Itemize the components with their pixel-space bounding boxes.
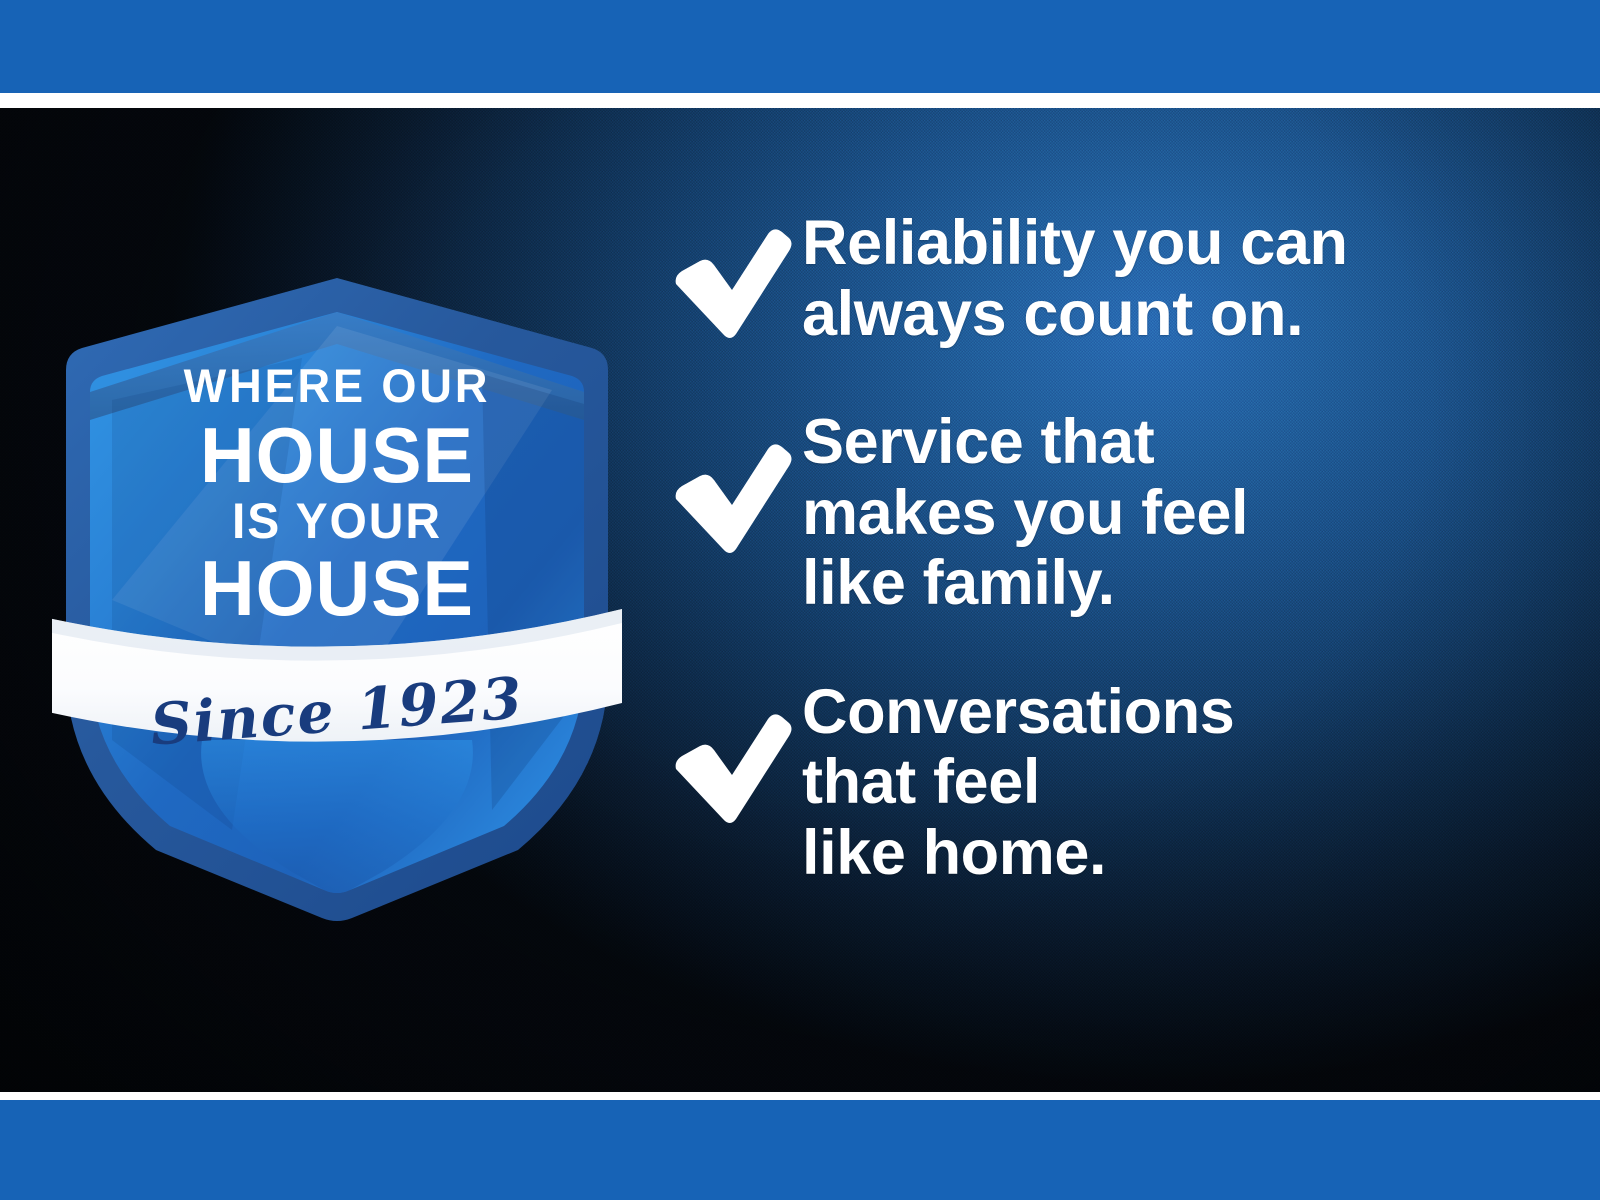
- benefit-line: makes you feel: [802, 478, 1560, 549]
- main-stage: WHERE OUR HOUSE IS YOUR HOUSE Since 1923…: [0, 108, 1600, 1092]
- badge-line-4: HOUSE: [61, 549, 614, 627]
- badge-wordmark: WHERE OUR HOUSE IS YOUR HOUSE: [52, 362, 622, 627]
- benefit-line: Reliability you can: [802, 208, 1560, 279]
- checkmark-icon: [670, 208, 802, 340]
- benefit-line: always count on.: [802, 279, 1560, 350]
- benefit-text: Reliability you can always count on.: [802, 208, 1560, 349]
- benefit-line: like home.: [802, 818, 1560, 889]
- benefit-item: Reliability you can always count on.: [670, 208, 1560, 349]
- badge-line-1: WHERE OUR: [63, 362, 610, 409]
- benefit-line: that feel: [802, 747, 1560, 818]
- benefit-item: Conversations that feel like home.: [670, 677, 1560, 889]
- badge-line-3: IS YOUR: [63, 496, 610, 546]
- checkmark-icon: [670, 677, 802, 825]
- shield-badge: WHERE OUR HOUSE IS YOUR HOUSE Since 1923: [52, 270, 622, 930]
- bottom-brand-bar: [0, 1100, 1600, 1200]
- top-brand-bar: [0, 0, 1600, 93]
- badge-line-2: HOUSE: [61, 416, 614, 494]
- benefit-text: Conversations that feel like home.: [802, 677, 1560, 889]
- promo-graphic: WHERE OUR HOUSE IS YOUR HOUSE Since 1923…: [0, 0, 1600, 1200]
- benefits-list: Reliability you can always count on. Ser…: [670, 208, 1560, 888]
- checkmark-icon: [670, 407, 802, 555]
- benefit-item: Service that makes you feel like family.: [670, 407, 1560, 619]
- benefit-line: Conversations: [802, 677, 1560, 748]
- benefit-line: Service that: [802, 407, 1560, 478]
- benefit-line: like family.: [802, 548, 1560, 619]
- benefit-text: Service that makes you feel like family.: [802, 407, 1560, 619]
